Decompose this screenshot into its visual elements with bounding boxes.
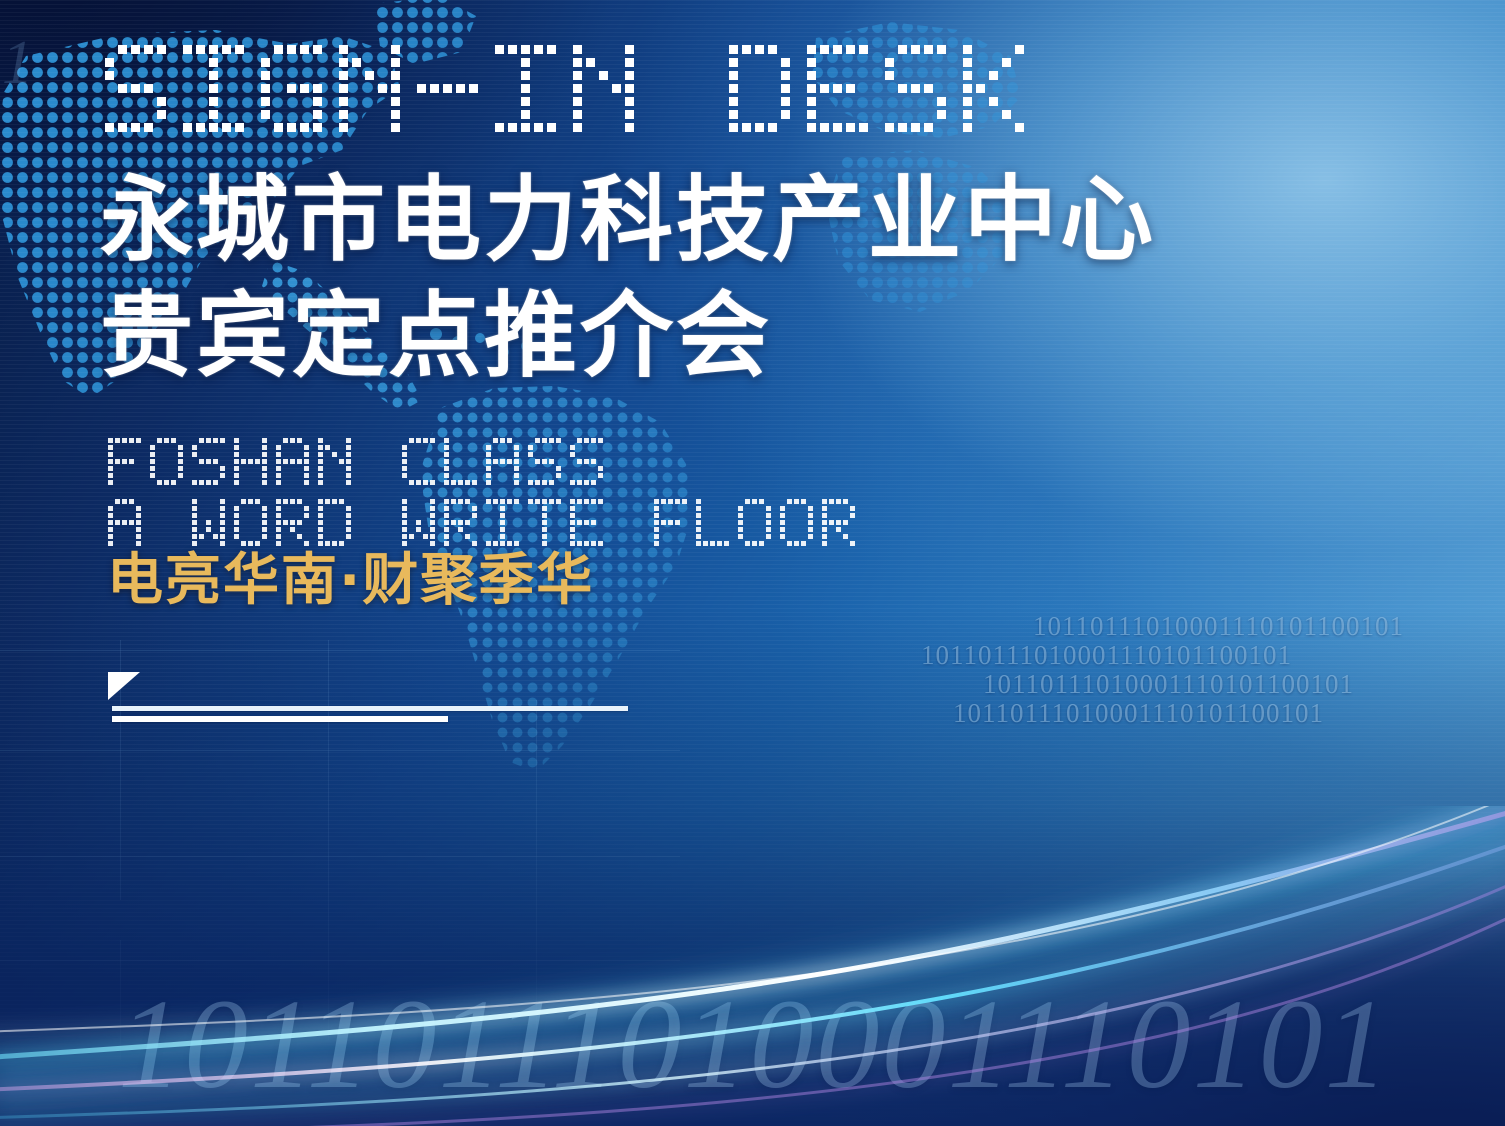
gold-slogan: 电亮华南·财聚季华 [107, 535, 594, 616]
divider-rule-short [112, 716, 448, 722]
corner-digit: 1 [2, 28, 33, 99]
led-headline [105, 45, 1041, 136]
decorative-divider [108, 672, 538, 720]
poster-content: 1 永城市电力科技产业中心 贵宾定点推介会 电亮华南·财聚季华 [0, 0, 1505, 1126]
title-line-1: 永城市电力科技产业中心 [100, 174, 1156, 267]
poster-canvas: 10110111010001110101100101 1011011101000… [0, 0, 1505, 1126]
title-line-2: 贵宾定点推介会 [100, 290, 772, 383]
flag-triangle-icon [108, 672, 140, 700]
led-subtitle [108, 438, 864, 548]
led-subtitle-line-1 [108, 438, 864, 487]
divider-rule-long [112, 706, 628, 711]
